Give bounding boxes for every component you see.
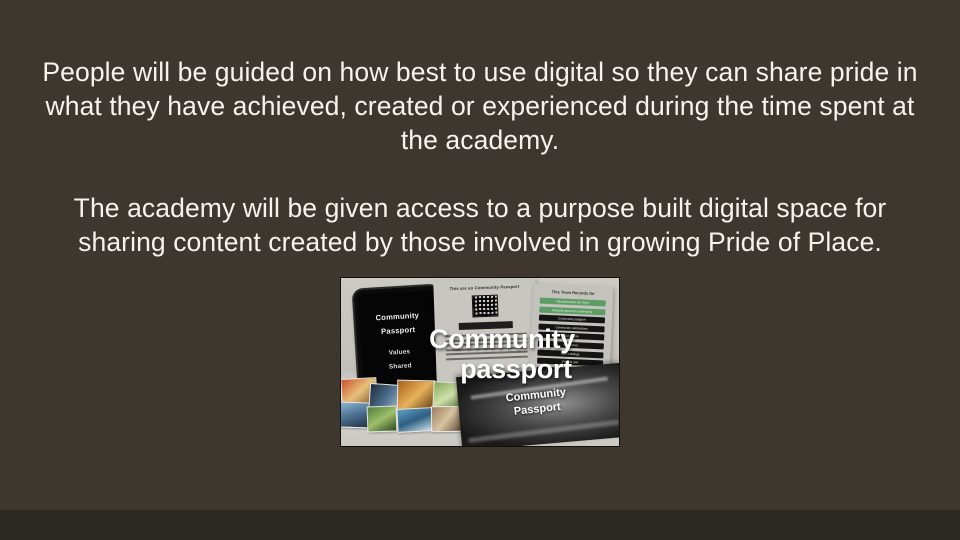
dark-photo-label-line2: Passport bbox=[513, 401, 561, 418]
dark-photo-label: Community Passport bbox=[475, 382, 597, 422]
paragraph-guidance: People will be guided on how best to use… bbox=[40, 55, 920, 157]
community-passport-image: Community Passport Values Shared This ar… bbox=[340, 277, 620, 447]
document-right-title: This Town Records for bbox=[539, 289, 607, 297]
document-center-title: This are an Community Passport bbox=[440, 283, 528, 291]
overlay-caption-line1: Community bbox=[429, 324, 575, 354]
document-right-item: Community passport bbox=[539, 315, 605, 324]
document-right-item: Records about the community bbox=[539, 306, 605, 315]
qr-code-icon bbox=[472, 295, 499, 318]
paragraph-digital-space: The academy will be given access to a pu… bbox=[40, 191, 920, 259]
overlay-caption-line2: passport bbox=[419, 354, 613, 384]
slide-bottom-band bbox=[0, 510, 960, 540]
slide-text-block: People will be guided on how best to use… bbox=[40, 28, 920, 285]
document-right-item: Records about the Town bbox=[540, 298, 606, 307]
slide-canvas: People will be guided on how best to use… bbox=[0, 0, 960, 540]
photo-background: Community Passport Values Shared This ar… bbox=[341, 278, 619, 446]
collage-photo-tile bbox=[396, 407, 433, 433]
collage-photo-tile bbox=[367, 405, 398, 432]
image-overlay-caption: Community passport bbox=[391, 324, 613, 384]
